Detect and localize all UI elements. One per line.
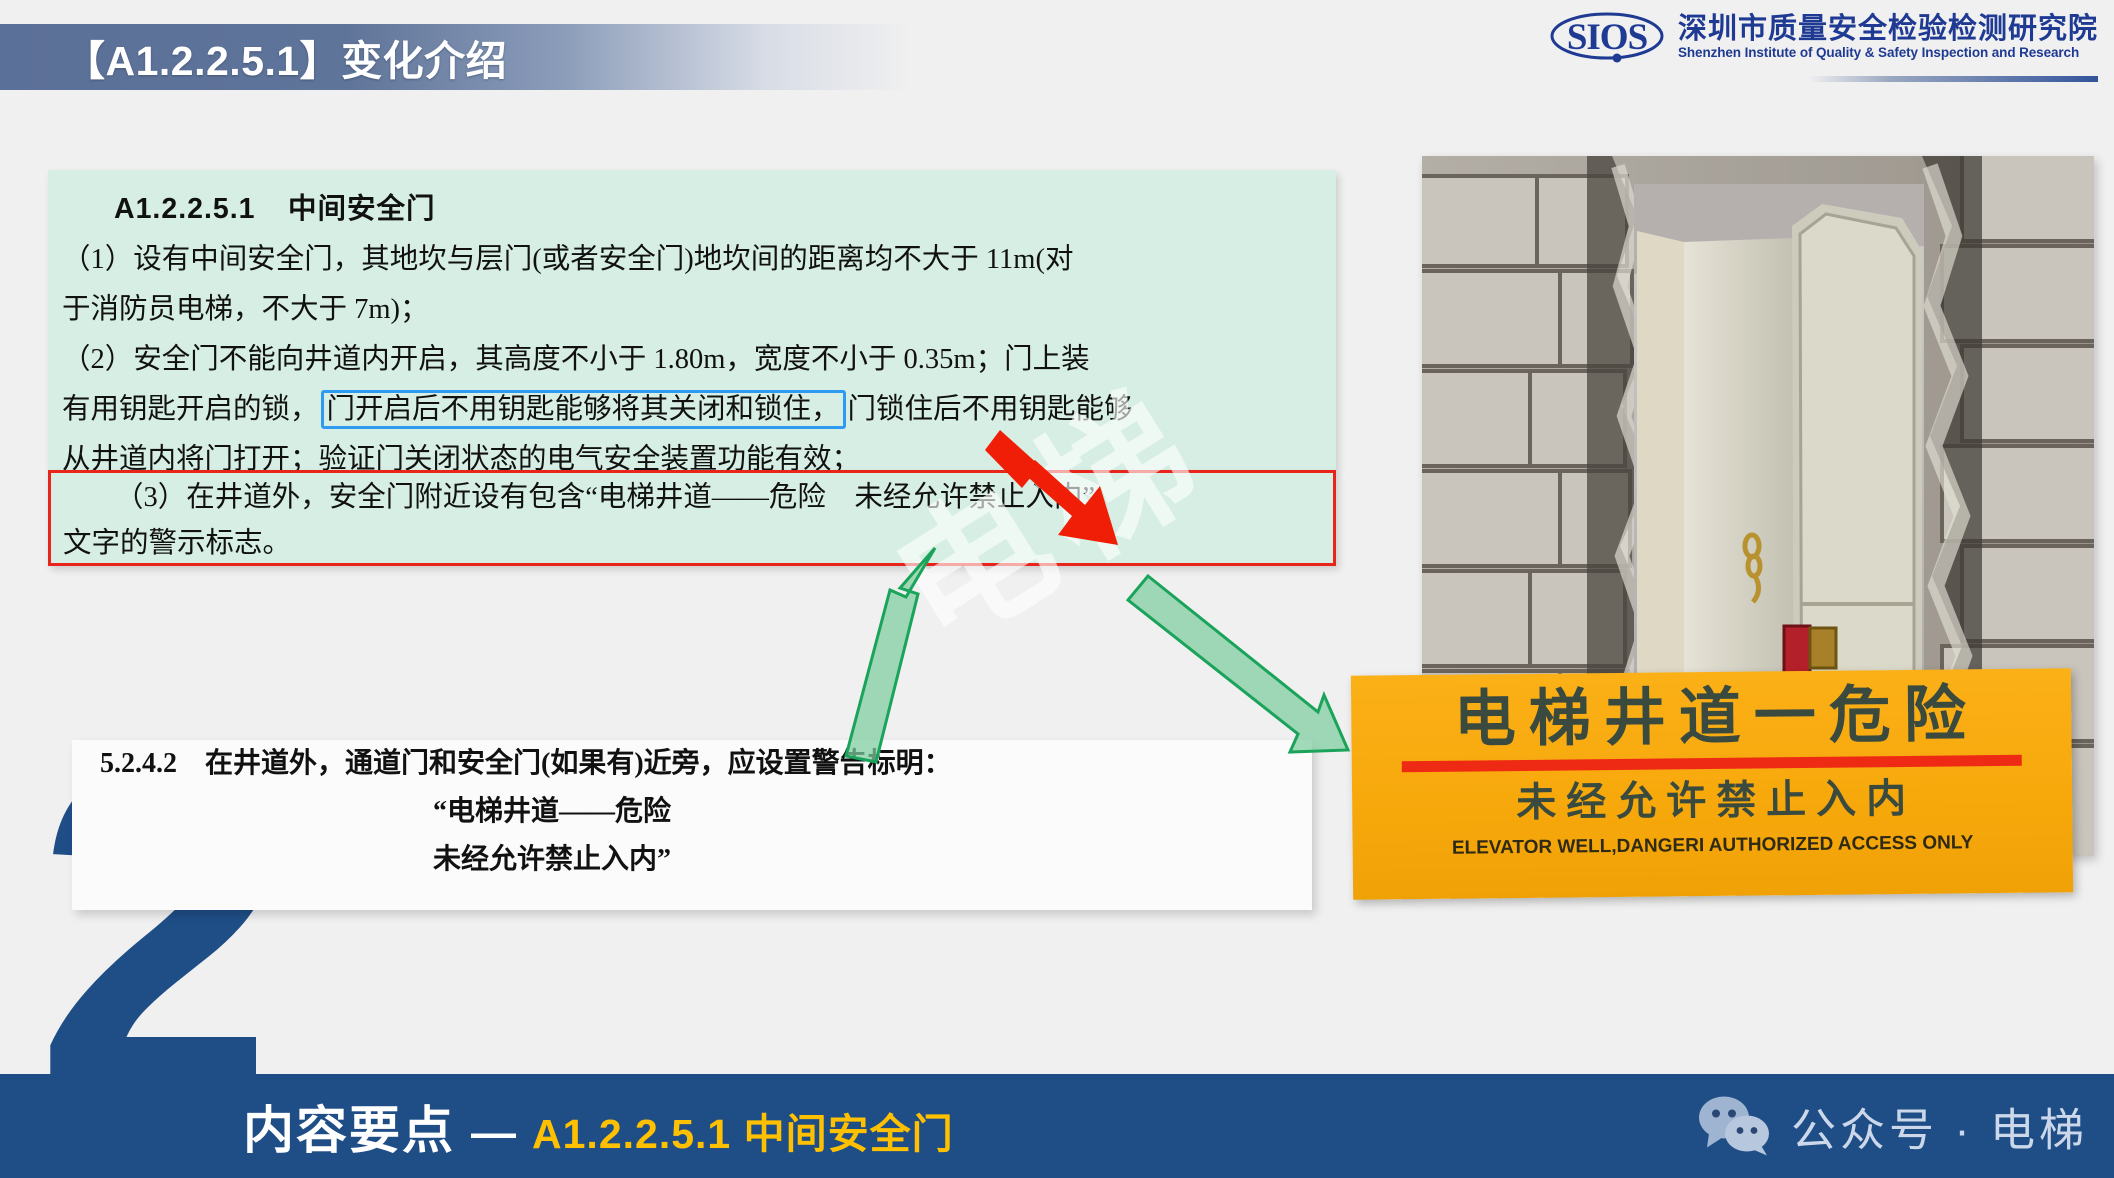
svg-text:SIOS: SIOS — [1567, 17, 1647, 58]
red-box-line-1: （3）在井道外，安全门附近设有包含“电梯井道——危险 未经允许禁止入内” — [51, 475, 1333, 521]
logo-underline-rule — [1808, 76, 2098, 82]
line4-prefix: 有用钥匙开启的锁， — [62, 394, 319, 425]
green-arrow-down-icon — [1128, 576, 1348, 752]
warning-sign-english-line: ELEVATOR WELL,DANGERI AUTHORIZED ACCESS … — [1452, 833, 1974, 860]
reference-line-3: 未经允许禁止入内” — [72, 836, 1312, 884]
slide-root: 【A1.2.2.5.1】变化介绍 SIOS 深圳市质量安全检验检测研究院 She… — [0, 0, 2114, 1178]
wechat-credit: 公众号 · 电梯 — [1697, 1094, 2088, 1159]
warning-sign-red-rule — [1402, 755, 2021, 772]
footer-title: 内容要点 — A1.2.2.5.1 中间安全门 — [243, 1089, 954, 1163]
reference-text-box: 5.2.4.2 在井道外，通道门和安全门(如果有)近旁，应设置警告标明： “电梯… — [72, 740, 1312, 910]
sios-logo-icon: SIOS — [1548, 8, 1666, 66]
reference-clause-text: 在井道外，通道门和安全门(如果有)近旁，应设置警告标明： — [205, 748, 952, 779]
green-arrow-up-icon — [846, 548, 935, 762]
standard-line-4: 有用钥匙开启的锁，门开启后不用钥匙能够将其关闭和锁住，门锁住后不用钥匙能够 — [62, 385, 1322, 435]
wechat-icon — [1697, 1095, 1773, 1157]
clause-number: A1.2.2.5.1 — [114, 193, 256, 225]
footer-number-2: 2 — [26, 1074, 256, 1178]
reference-line-2: “电梯井道——危险 — [72, 788, 1312, 836]
logo-english-name: Shenzhen Institute of Quality & Safety I… — [1678, 45, 2098, 61]
standard-line-2: 于消防员电梯，不大于 7m)； — [62, 285, 1322, 335]
logo-chinese-name: 深圳市质量安全检验检测研究院 — [1678, 14, 2098, 45]
reference-line-1: 5.2.4.2 在井道外，通道门和安全门(如果有)近旁，应设置警告标明： — [72, 740, 1312, 788]
red-box-line-2: 文字的警示标志。 — [51, 521, 1333, 567]
logo-text-block: 深圳市质量安全检验检测研究院 Shenzhen Institute of Qua… — [1678, 14, 2098, 61]
standard-line-3: （2）安全门不能向井道内开启，其高度不小于 1.80m，宽度不小于 0.35m；… — [62, 335, 1322, 385]
wechat-label: 公众号 · 电梯 — [1791, 1094, 2088, 1159]
footer-sub-label: A1.2.2.5.1 中间安全门 — [532, 1100, 954, 1160]
footer-main-label: 内容要点 — [243, 1089, 455, 1163]
page-title: 【A1.2.2.5.1】变化介绍 — [64, 26, 507, 88]
warning-sign: 电梯井道一危险 未经允许禁止入内 ELEVATOR WELL,DANGERI A… — [1351, 668, 2073, 900]
standard-line-1: （1）设有中间安全门，其地坎与层门(或者安全门)地坎间的距离均不大于 11m(对 — [62, 235, 1322, 285]
warning-sign-line-2: 未经允许禁止入内 — [1516, 777, 1916, 825]
footer-dash: — — [471, 1107, 516, 1159]
clause-title: 中间安全门 — [288, 194, 436, 225]
standard-text-box: A1.2.2.5.1 中间安全门 （1）设有中间安全门，其地坎与层门(或者安全门… — [48, 170, 1336, 470]
highlighted-clause-text: 门开启后不用钥匙能够将其关闭和锁住， — [321, 390, 846, 429]
clause-heading: A1.2.2.5.1 中间安全门 — [62, 184, 1322, 235]
reference-clause-number: 5.2.4.2 — [100, 748, 177, 779]
footer-bar: 2 内容要点 — A1.2.2.5.1 中间安全门 公众号 · 电梯 — [0, 1074, 2114, 1178]
organization-logo: SIOS 深圳市质量安全检验检测研究院 Shenzhen Institute o… — [1548, 8, 2098, 66]
red-highlight-box: （3）在井道外，安全门附近设有包含“电梯井道——危险 未经允许禁止入内” 文字的… — [48, 470, 1336, 566]
warning-sign-line-1: 电梯井道一危险 — [1453, 679, 1979, 754]
line4-suffix: 门锁住后不用钥匙能够 — [848, 394, 1133, 425]
